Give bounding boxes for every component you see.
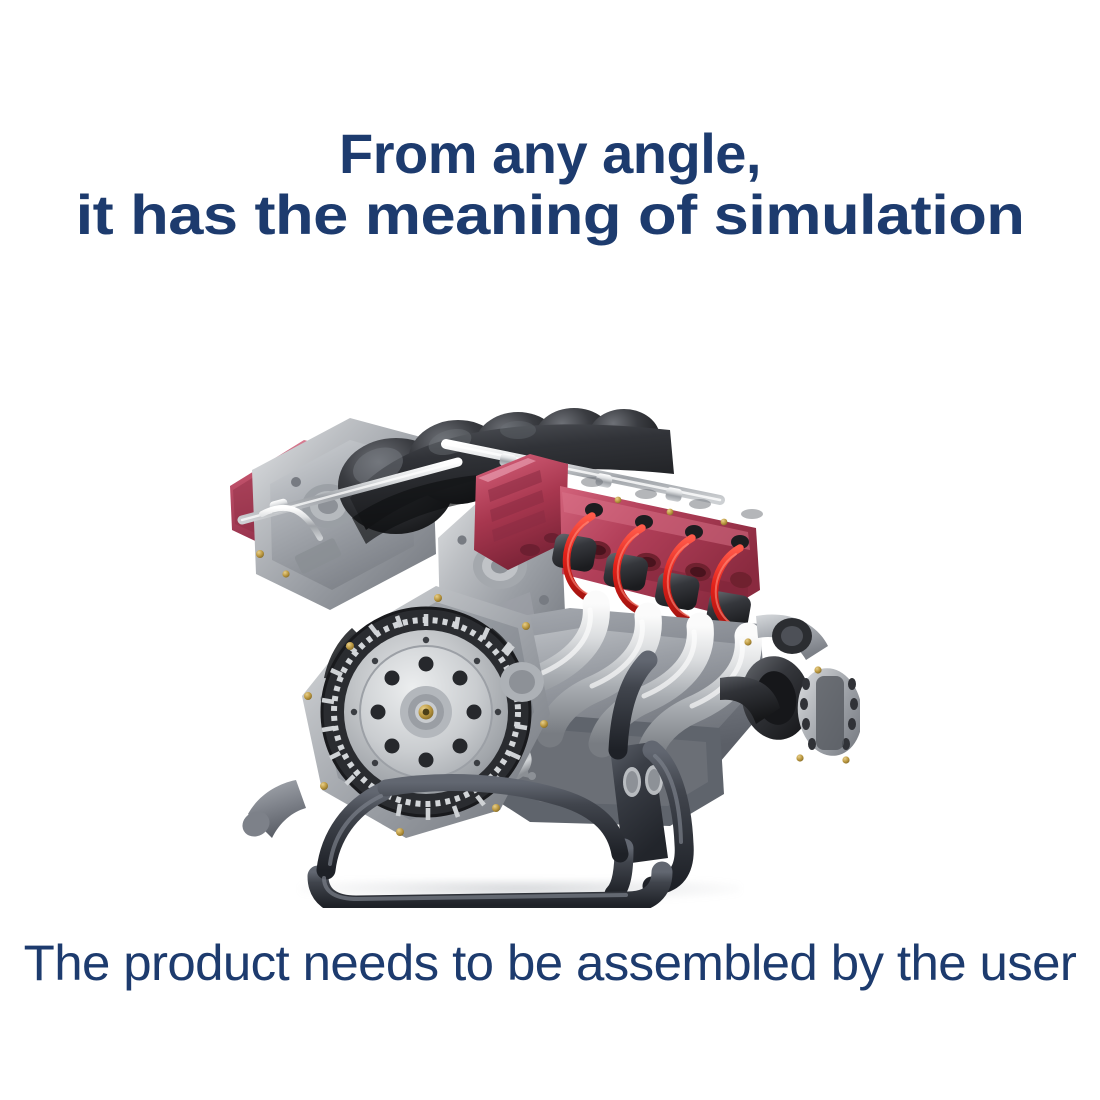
product-caption-text: The product needs to be assembled by the… [24,934,1077,992]
water-outlet [238,780,306,841]
product-image [200,378,860,908]
headline-line-2: it has the meaning of simulation [0,185,1100,244]
headline: From any angle, it has the meaning of si… [0,124,1100,245]
headline-line-1: From any angle, [0,124,1100,183]
product-marketing-image: From any angle, it has the meaning of si… [0,0,1100,1100]
product-caption: The product needs to be assembled by the… [0,934,1100,992]
